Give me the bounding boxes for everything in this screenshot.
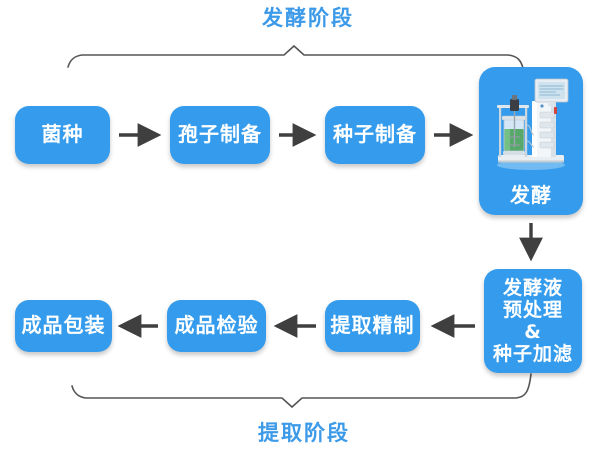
node-strain-label: 菌种 bbox=[42, 123, 84, 146]
node-fermentation-label: 发酵 bbox=[510, 184, 552, 207]
node-seed-preparation-label: 种子制备 bbox=[333, 123, 417, 146]
node-extraction-refining[interactable]: 提取精制 bbox=[325, 300, 420, 352]
node-spore-preparation[interactable]: 孢子制备 bbox=[170, 106, 270, 164]
brace-extraction-stage bbox=[72, 374, 531, 407]
node-product-inspection-label: 成品检验 bbox=[175, 314, 259, 337]
node-product-inspection[interactable]: 成品检验 bbox=[167, 300, 266, 352]
node-product-packaging-label: 成品包装 bbox=[22, 314, 106, 337]
node-product-packaging[interactable]: 成品包装 bbox=[15, 300, 112, 352]
stage-label-fermentation: 发酵阶段 bbox=[262, 2, 354, 32]
brace-fermentation-stage bbox=[68, 46, 523, 68]
flowchart-canvas: 发酵阶段 提取阶段 菌种 孢子制备 种子制备 bbox=[0, 0, 600, 449]
node-strain[interactable]: 菌种 bbox=[15, 106, 110, 164]
node-extraction-refining-label: 提取精制 bbox=[331, 314, 415, 337]
node-broth-pretreatment[interactable]: 发酵液 预处理 & 种子加滤 bbox=[484, 269, 582, 373]
node-fermentation[interactable]: 发酵 bbox=[479, 67, 583, 215]
node-broth-pretreatment-label: 发酵液 预处理 & 种子加滤 bbox=[493, 277, 573, 365]
bioreactor-photo-icon bbox=[488, 77, 574, 173]
stage-label-extraction: 提取阶段 bbox=[258, 417, 350, 447]
node-seed-preparation[interactable]: 种子制备 bbox=[325, 106, 425, 164]
node-spore-preparation-label: 孢子制备 bbox=[178, 123, 262, 146]
